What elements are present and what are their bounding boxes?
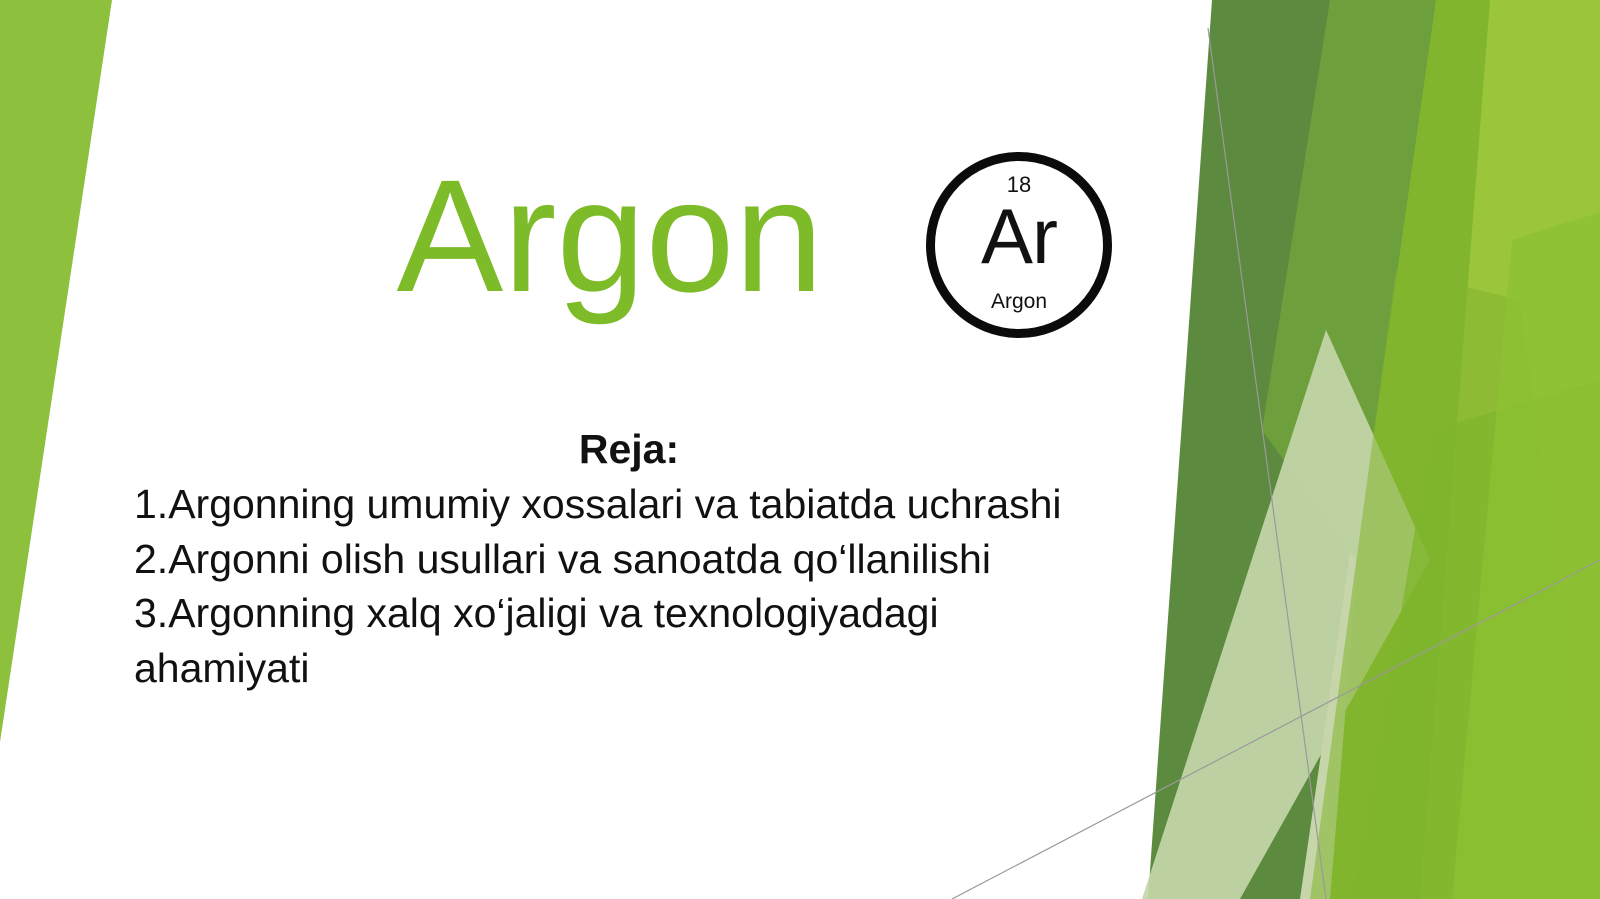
left-green-wedge	[0, 0, 112, 742]
right-pale-wedge-2	[1232, 220, 1600, 899]
slide-title: Argon	[300, 152, 920, 320]
right-overlay-light-1	[1352, 380, 1600, 899]
right-light-wedge	[1420, 0, 1600, 899]
element-name: Argon	[926, 291, 1112, 312]
agenda-item-2: 2.Argonni olish usullari va sanoatda qo‘…	[134, 532, 1244, 587]
presentation-slide: Argon 18 Ar Argon Reja: 1.Argonning umum…	[0, 0, 1600, 899]
right-overlay-light-2	[1452, 212, 1600, 899]
agenda-item-3: 3.Argonning xalq xo‘jaligi va texnologiy…	[134, 586, 1114, 695]
agenda-item-1: 1.Argonning umumiy xossalari va tabiatda…	[134, 477, 1244, 532]
right-bright-wedge	[1330, 0, 1600, 899]
right-overlay-pale-2	[1310, 270, 1600, 899]
element-symbol: Ar	[926, 197, 1112, 275]
slide-body: Reja: 1.Argonning umumiy xossalari va ta…	[134, 424, 1244, 695]
agenda-list: 1.Argonning umumiy xossalari va tabiatda…	[134, 477, 1244, 695]
element-badge: 18 Ar Argon	[926, 152, 1112, 338]
agenda-heading: Reja:	[134, 424, 1244, 475]
right-mid-wedge	[1262, 0, 1436, 560]
